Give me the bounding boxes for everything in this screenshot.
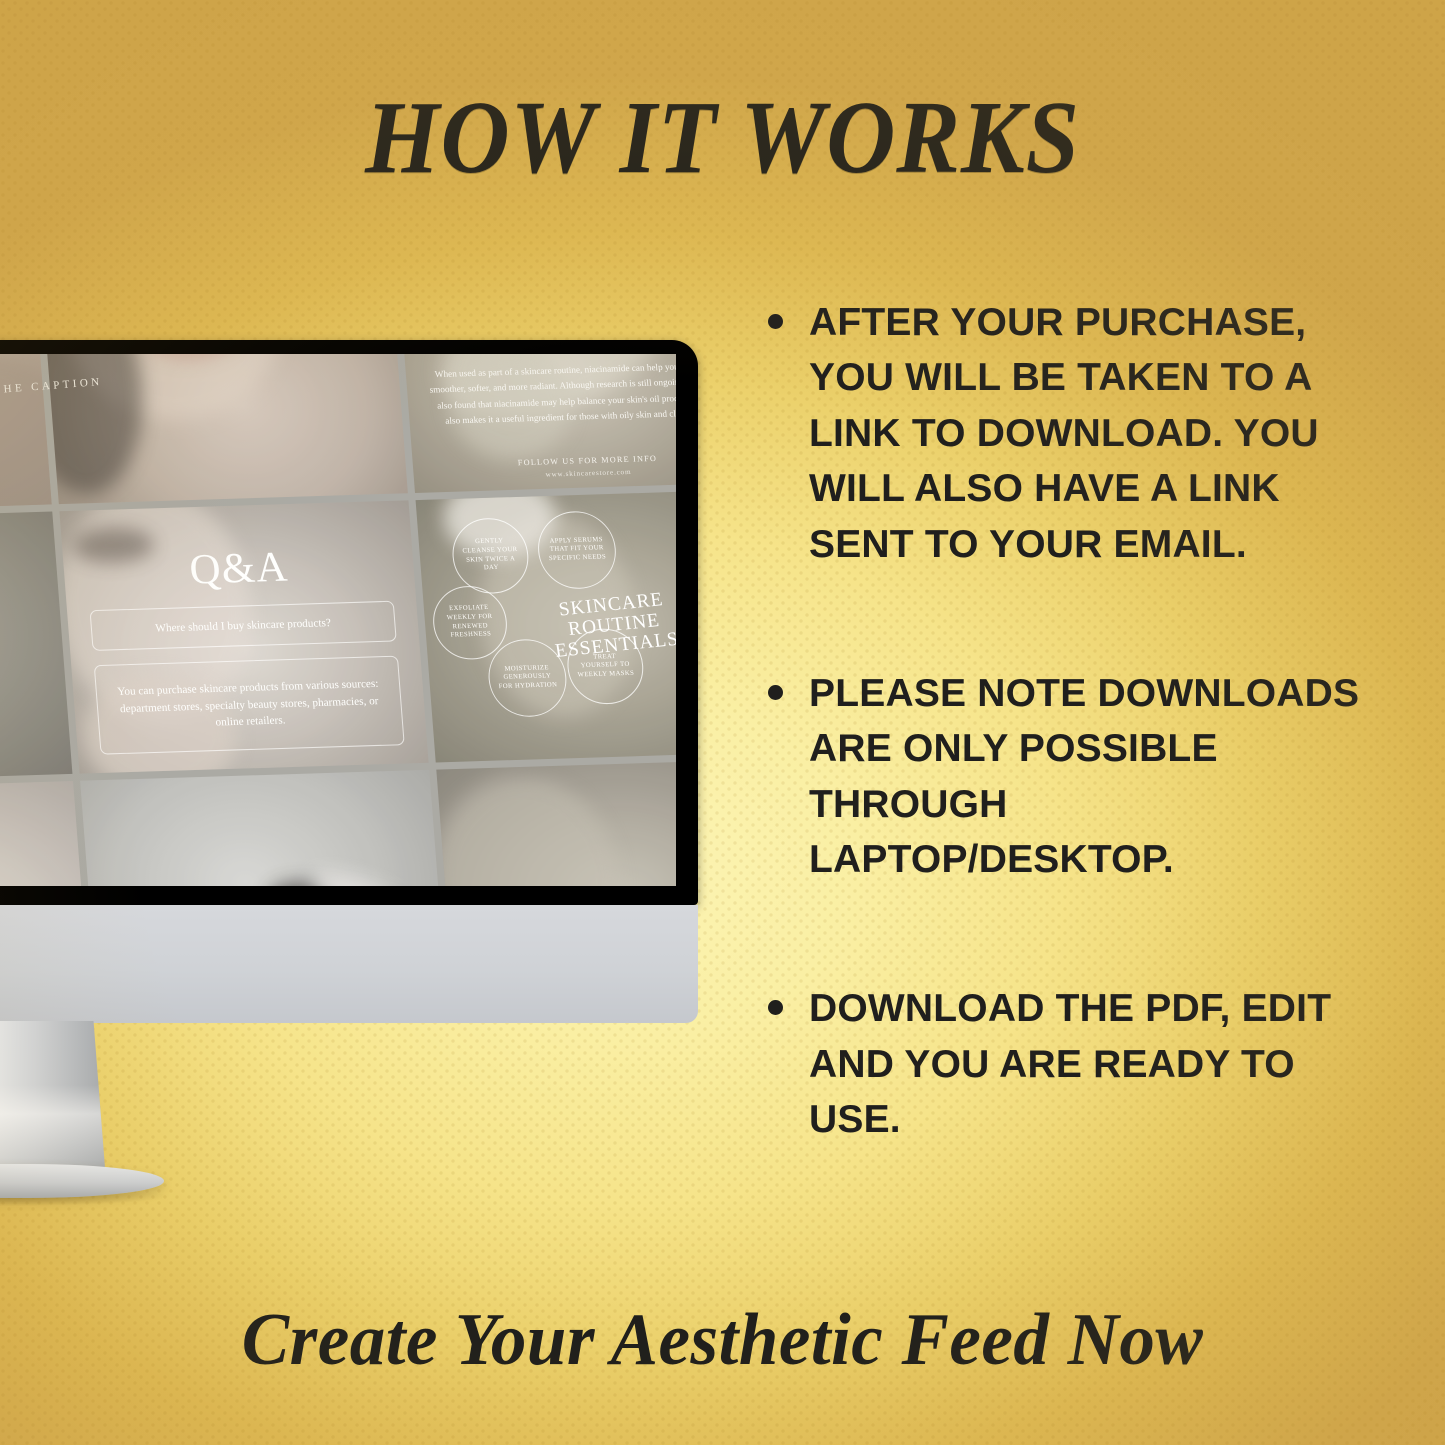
grid-cell-8: LACTIC ACID Apply 2-3 drops of serum for…: [80, 770, 449, 886]
list-item: Download the PDF, edit and you are ready…: [768, 981, 1368, 1147]
bullet-text-2: Please note downloads are only possible …: [809, 666, 1368, 888]
cell-6-tip-2: APPLY SERUMS THAT FIT YOUR SPECIFIC NEED…: [535, 510, 619, 590]
grid-cell-6: GENTLY CLEANSE YOUR SKIN TWICE A DAY APP…: [416, 489, 676, 763]
monitor-screen: Helps refresh and slows gently penetrate…: [0, 354, 676, 886]
photo-blob: [0, 354, 52, 515]
bullet-dot-icon: [768, 314, 783, 329]
cell-3-body: When used as part of a skincare routine,…: [426, 358, 676, 430]
monitor-stand-neck: [0, 1021, 106, 1181]
cell-7-title: Know about facial care: [0, 802, 82, 886]
monitor-bezel: Helps refresh and slows gently penetrate…: [0, 340, 698, 905]
cell-6-tip-1: GENTLY CLEANSE YOUR SKIN TWICE A DAY: [450, 517, 531, 595]
cell-6-title: SKINCARE ROUTINE ESSENTIALS: [523, 586, 676, 664]
cell-overlay: [80, 770, 449, 886]
grid-cell-1: Helps refresh and slows gently penetrate…: [0, 354, 52, 515]
grid-cell-3: Know more about niacinamide When used as…: [395, 354, 676, 493]
poster-canvas: Helps refresh and slows gently penetrate…: [0, 0, 1445, 1445]
list-item: After your purchase, you will be taken t…: [768, 295, 1368, 572]
bullet-dot-icon: [768, 685, 783, 700]
footer-tagline: Create Your Aesthetic Feed Now: [29, 1298, 1416, 1383]
grid-cell-5: Q&A Where should I buy skincare products…: [59, 500, 428, 774]
cell-6-circle-group: GENTLY CLEANSE YOUR SKIN TWICE A DAY APP…: [416, 489, 676, 763]
instructions-list: After your purchase, you will be taken t…: [768, 295, 1368, 1148]
grid-cell-9: [436, 759, 676, 886]
monitor-chin: [0, 905, 698, 1023]
cell-6-tip-3: EXFOLIATE WEEKLY FOR RENEWED FRESHNESS: [430, 585, 509, 661]
bullet-text-1: After your purchase, you will be taken t…: [809, 295, 1368, 572]
desktop-monitor: Helps refresh and slows gently penetrate…: [0, 340, 700, 1195]
bullet-dot-icon: [768, 1000, 783, 1015]
cell-5-answer: You can purchase skincare products from …: [94, 656, 405, 755]
grid-cell-7: Know about facial care CHEMICAL PEEL A p…: [0, 781, 93, 886]
bullet-text-3: Download the PDF, edit and you are ready…: [809, 981, 1368, 1147]
page-title: HOW IT WORKS: [58, 78, 1387, 197]
instagram-grid-mockup: Helps refresh and slows gently penetrate…: [0, 354, 676, 886]
list-item: Please note downloads are only possible …: [768, 666, 1368, 888]
